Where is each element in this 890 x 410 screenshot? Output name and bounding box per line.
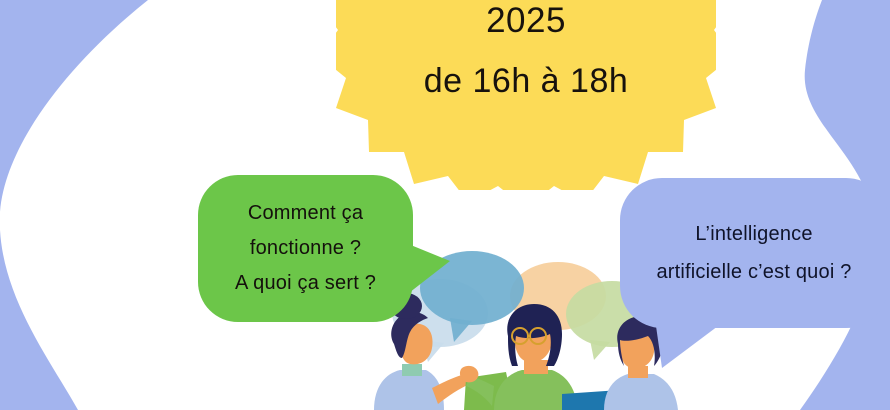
- starburst-time-range: de 16h à 18h: [336, 55, 716, 107]
- green-bubble-line-1: Comment ça: [248, 196, 363, 231]
- speech-bubble-blue: L’intelligence artificielle c’est quoi ?: [620, 178, 890, 368]
- speech-bubble-blue-body: L’intelligence artificielle c’est quoi ?: [620, 178, 888, 328]
- blue-bubble-line-2: artificielle c’est quoi ?: [656, 253, 851, 291]
- green-bubble-line-3: A quoi ça sert ?: [235, 266, 376, 301]
- blue-bubble-line-1: L’intelligence: [695, 215, 812, 253]
- person-center-hand: [460, 366, 478, 382]
- speech-bubble-green: Comment ça fonctionne ? A quoi ça sert ?: [198, 175, 448, 330]
- bubble-light-green-tail: [590, 340, 610, 360]
- green-bubble-line-2: fonctionne ?: [250, 231, 361, 266]
- starburst-text-block: 2025 de 16h à 18h: [336, 0, 716, 107]
- starburst-year: 2025: [336, 0, 716, 46]
- person-center-neck: [524, 360, 548, 374]
- person-left-neck: [402, 364, 422, 376]
- person-right-body: [604, 374, 678, 410]
- speech-bubble-green-body: Comment ça fonctionne ? A quoi ça sert ?: [198, 175, 413, 322]
- speech-bubble-blue-tail: [656, 326, 718, 368]
- poster-canvas: 2025 de 16h à 18h: [0, 0, 890, 410]
